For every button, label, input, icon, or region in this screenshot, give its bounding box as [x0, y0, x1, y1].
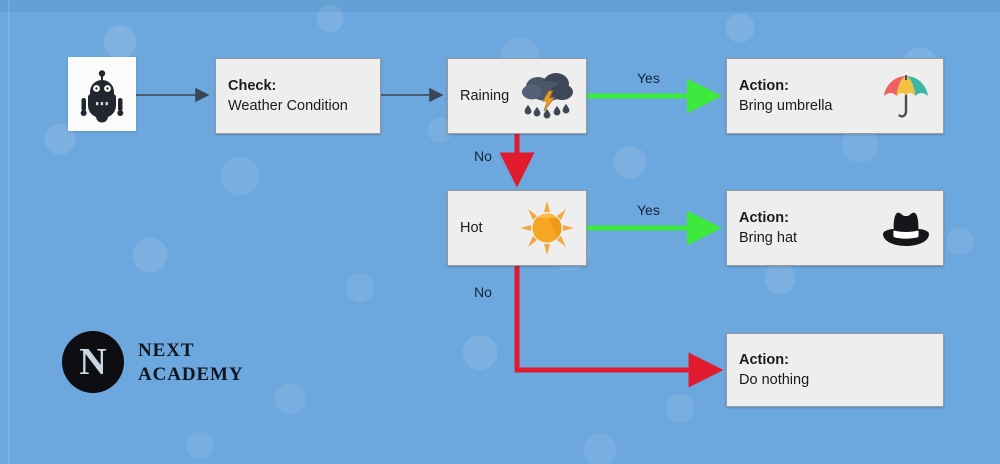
- umbrella-icon: [877, 67, 935, 125]
- edge-start-to-check: [136, 86, 220, 110]
- node-action-do-nothing[interactable]: Action: Do nothing: [726, 333, 944, 407]
- logo-monogram: N: [62, 331, 124, 393]
- node-check-line1: Check:: [228, 76, 348, 96]
- diagram-canvas: Yes Yes No No: [0, 0, 1000, 464]
- edge-label-hot-no: No: [474, 284, 492, 300]
- edge-check-to-raining: [380, 86, 454, 110]
- node-hot-label: Hot: [460, 218, 483, 238]
- node-raining[interactable]: Raining: [447, 58, 587, 134]
- background-top-band: [0, 0, 1000, 12]
- node-do-nothing-line2: Do nothing: [739, 370, 809, 390]
- node-check-weather-condition[interactable]: Check: Weather Condition: [215, 58, 381, 134]
- edge-raining-yes-to-umbrella: [586, 84, 732, 112]
- logo-wordmark-line2: ACADEMY: [138, 363, 244, 387]
- edge-label-raining-yes: Yes: [637, 70, 660, 86]
- node-do-nothing-line1: Action:: [739, 350, 809, 370]
- cowboy-hat-icon: [875, 203, 937, 253]
- thunder-cloud-rain-icon: [516, 67, 580, 125]
- node-hot[interactable]: Hot: [447, 190, 587, 266]
- node-hat-line2: Bring hat: [739, 228, 797, 248]
- node-do-nothing-text: Action: Do nothing: [739, 350, 809, 390]
- node-raining-label: Raining: [460, 86, 509, 106]
- node-umbrella-line1: Action:: [739, 76, 833, 96]
- node-check-line2: Weather Condition: [228, 96, 348, 116]
- node-umbrella-text: Action: Bring umbrella: [739, 76, 833, 116]
- logo-wordmark-line1: NEXT: [138, 339, 244, 363]
- edge-hot-yes-to-hat: [586, 216, 732, 244]
- node-check-weather-text: Check: Weather Condition: [228, 76, 348, 116]
- node-action-bring-hat[interactable]: Action: Bring hat: [726, 190, 944, 266]
- node-action-bring-umbrella[interactable]: Action: Bring umbrella: [726, 58, 944, 134]
- robot-icon: [68, 57, 136, 131]
- background-left-guide-line: [8, 0, 10, 464]
- node-start-robot[interactable]: [68, 57, 136, 131]
- edge-label-hot-yes: Yes: [637, 202, 660, 218]
- node-hat-line1: Action:: [739, 208, 797, 228]
- edge-label-raining-no: No: [474, 148, 492, 164]
- next-academy-logo: N NEXT ACADEMY: [62, 331, 272, 395]
- edge-hot-no-to-do-nothing: [500, 264, 746, 388]
- node-hat-text: Action: Bring hat: [739, 208, 797, 248]
- edge-raining-no-to-hot: [500, 132, 536, 194]
- node-umbrella-line2: Bring umbrella: [739, 96, 833, 116]
- sun-icon: [516, 199, 578, 257]
- logo-wordmark: NEXT ACADEMY: [138, 339, 244, 388]
